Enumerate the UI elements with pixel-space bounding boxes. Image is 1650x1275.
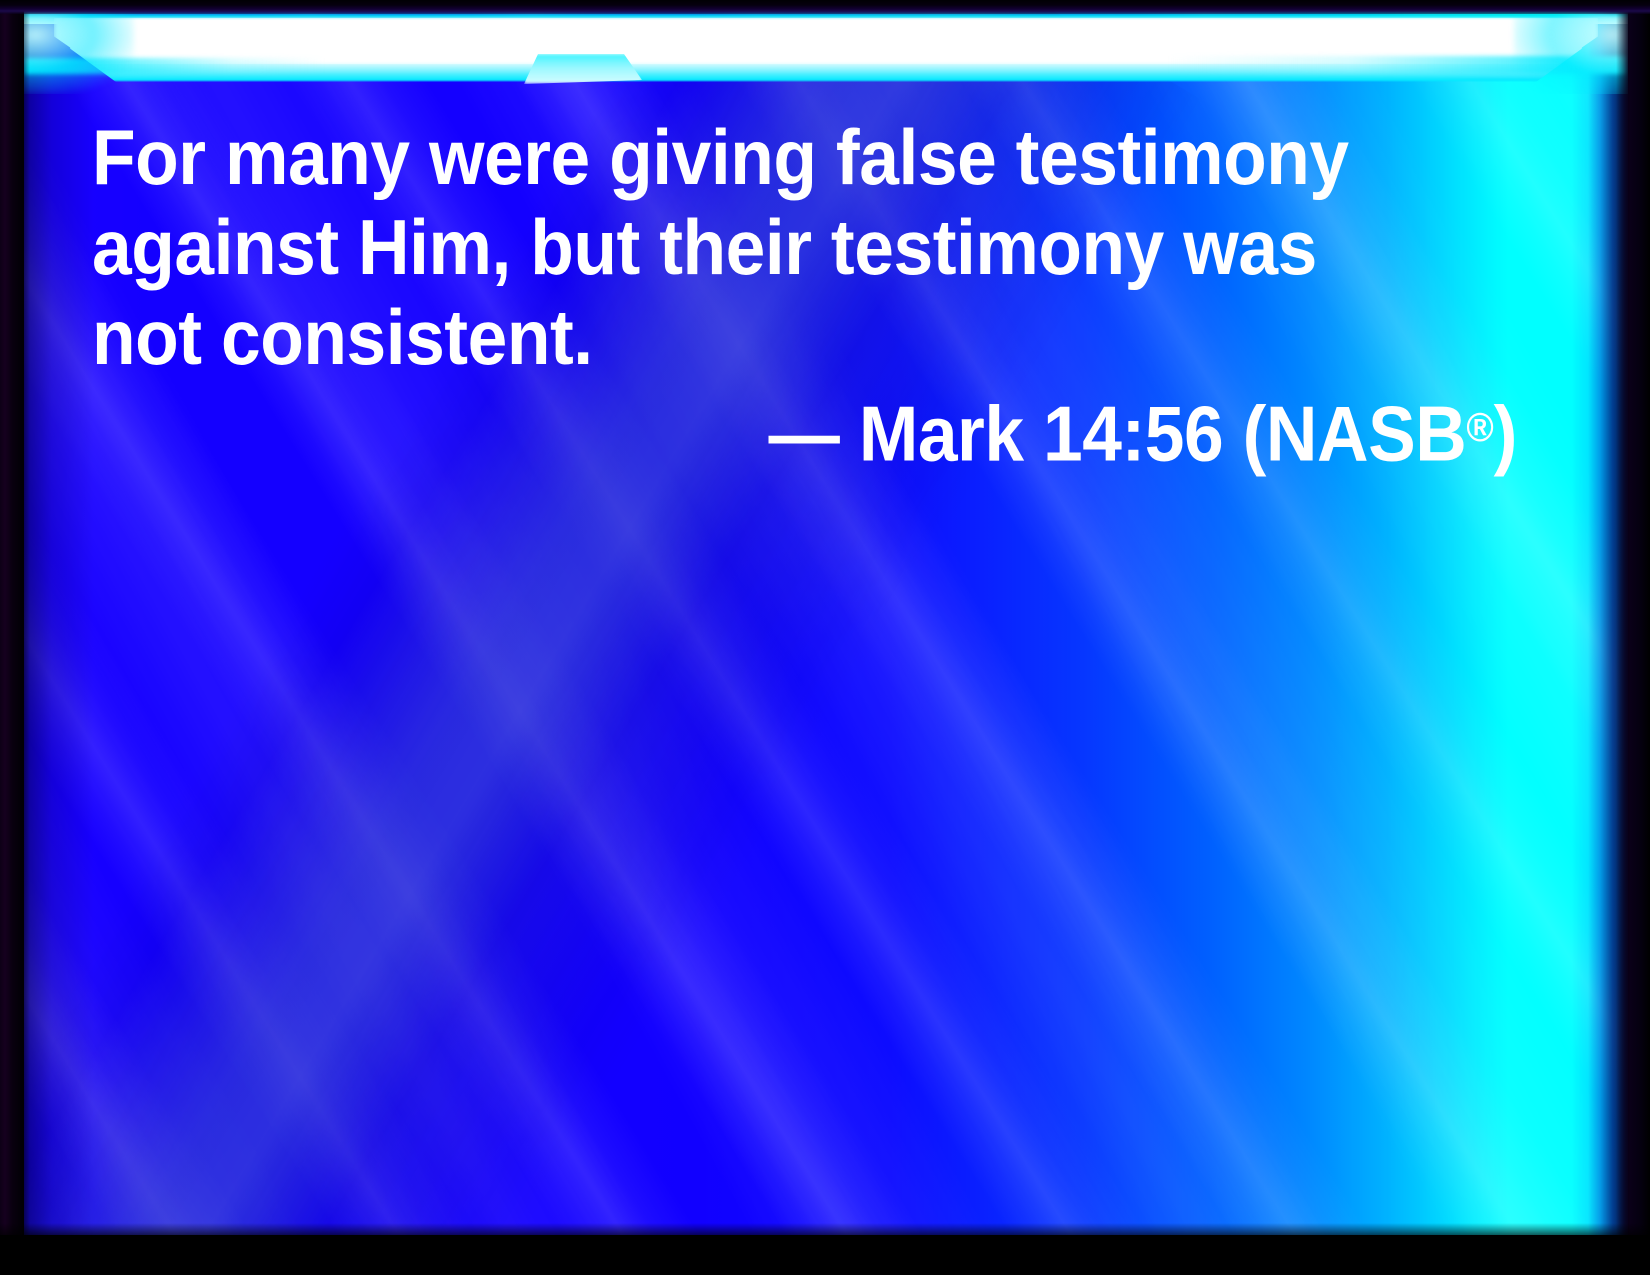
attribution-spacer	[839, 389, 858, 477]
registered-trademark-icon: ®	[1466, 404, 1493, 450]
attribution-version: NASB	[1266, 389, 1466, 477]
scripture-slide: For many were giving false testimony aga…	[0, 0, 1650, 1275]
verse-attribution: — Mark 14:56 (NASB®)	[213, 382, 1517, 478]
attribution-open-paren: (	[1243, 389, 1266, 477]
glow-corner-left	[24, 12, 134, 94]
background-right-shadow	[1588, 10, 1628, 1241]
verse-text: For many were giving false testimony aga…	[92, 112, 1391, 382]
attribution-reference: Mark 14:56	[859, 389, 1223, 477]
attribution-close-paren: )	[1494, 389, 1517, 477]
attribution-spacer-2	[1223, 389, 1242, 477]
frame-edge-bottom	[0, 1235, 1650, 1275]
attribution-em-dash: —	[769, 389, 840, 477]
background-left-shadow	[24, 10, 94, 1241]
frame-edge-top	[0, 0, 1650, 14]
top-glow-band	[24, 10, 1628, 94]
glow-notch	[524, 54, 642, 84]
glow-corner-right	[1514, 14, 1628, 94]
